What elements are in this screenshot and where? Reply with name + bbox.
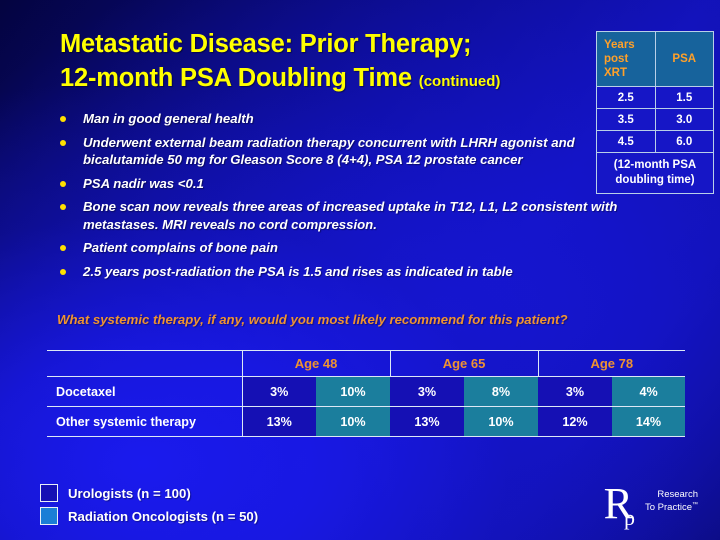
title-line-1: Metastatic Disease: Prior Therapy; bbox=[60, 28, 580, 62]
case-description-bullet-list: Man in good general health Underwent ext… bbox=[60, 110, 620, 286]
radiation-oncologists-swatch-icon bbox=[40, 507, 58, 525]
logo-wordmark: Research To Practice™ bbox=[645, 489, 698, 520]
psa-header-years-post-xrt: Years post XRT bbox=[597, 32, 656, 87]
results-cell-urologists: 13% bbox=[242, 407, 316, 437]
psa-value: 6.0 bbox=[655, 131, 714, 153]
results-cell-urologists: 13% bbox=[390, 407, 464, 437]
survey-question: What systemic therapy, if any, would you… bbox=[57, 311, 602, 328]
psa-note-line-2: doubling time) bbox=[615, 174, 694, 186]
results-header-age-48: Age 48 bbox=[242, 351, 390, 377]
results-header-blank bbox=[47, 351, 242, 377]
legend-item-radiation-oncologists: Radiation Oncologists (n = 50) bbox=[40, 507, 258, 525]
title-line-2: 12-month PSA Doubling Time (continued) bbox=[60, 62, 580, 96]
bullet-text: Underwent external beam radiation therap… bbox=[83, 134, 620, 169]
bullet-dot-icon bbox=[60, 269, 66, 275]
results-header-age-78: Age 78 bbox=[538, 351, 685, 377]
results-cell-urologists: 3% bbox=[242, 377, 316, 407]
legend-label: Urologists (n = 100) bbox=[68, 486, 191, 501]
logo-text-line-1: Research bbox=[657, 489, 698, 500]
results-row-label: Other systemic therapy bbox=[47, 407, 242, 437]
results-cell-radiation-oncologists: 10% bbox=[464, 407, 538, 437]
results-cell-radiation-oncologists: 10% bbox=[316, 377, 390, 407]
results-cell-radiation-oncologists: 8% bbox=[464, 377, 538, 407]
psa-table-row: 2.5 1.5 bbox=[597, 87, 714, 109]
bullet-text: Patient complains of bone pain bbox=[83, 239, 278, 257]
psa-note-line-1: (12-month PSA bbox=[614, 159, 696, 171]
table-row: Docetaxel 3% 10% 3% 8% 3% 4% bbox=[47, 377, 685, 407]
list-item: Underwent external beam radiation therap… bbox=[60, 134, 620, 169]
results-cell-urologists: 3% bbox=[390, 377, 464, 407]
psa-value: 3.0 bbox=[655, 109, 714, 131]
table-row: Other systemic therapy 13% 10% 13% 10% 1… bbox=[47, 407, 685, 437]
results-cell-urologists: 12% bbox=[538, 407, 612, 437]
bullet-dot-icon bbox=[60, 245, 66, 251]
legend: Urologists (n = 100) Radiation Oncologis… bbox=[40, 484, 258, 530]
results-header-age-65: Age 65 bbox=[390, 351, 538, 377]
research-to-practice-logo: Rp Research To Practice™ bbox=[604, 482, 698, 526]
results-header-row: Age 48 Age 65 Age 78 bbox=[47, 351, 685, 377]
psa-header-psa: PSA bbox=[655, 32, 714, 87]
bullet-text: PSA nadir was <0.1 bbox=[83, 175, 204, 193]
bullet-text: 2.5 years post-radiation the PSA is 1.5 … bbox=[83, 263, 513, 281]
urologists-swatch-icon bbox=[40, 484, 58, 502]
results-cell-radiation-oncologists: 10% bbox=[316, 407, 390, 437]
slide-canvas: Metastatic Disease: Prior Therapy; 12-mo… bbox=[0, 0, 720, 540]
bullet-dot-icon bbox=[60, 204, 66, 210]
psa-years-value: 2.5 bbox=[597, 87, 656, 109]
list-item: Patient complains of bone pain bbox=[60, 239, 620, 257]
list-item: PSA nadir was <0.1 bbox=[60, 175, 620, 193]
bullet-text: Bone scan now reveals three areas of inc… bbox=[83, 198, 620, 233]
results-cell-radiation-oncologists: 14% bbox=[612, 407, 685, 437]
results-cell-urologists: 3% bbox=[538, 377, 612, 407]
bullet-dot-icon bbox=[60, 116, 66, 122]
bullet-dot-icon bbox=[60, 140, 66, 146]
title-line-2-main: 12-month PSA Doubling Time bbox=[60, 64, 412, 92]
logo-monogram-icon: Rp bbox=[604, 482, 642, 526]
list-item: Man in good general health bbox=[60, 110, 620, 128]
results-cell-radiation-oncologists: 4% bbox=[612, 377, 685, 407]
survey-results-table: Age 48 Age 65 Age 78 Docetaxel 3% 10% 3%… bbox=[47, 350, 685, 437]
title-continued-note: (continued) bbox=[419, 73, 501, 90]
logo-letter-p: p bbox=[624, 505, 634, 530]
psa-table-header-row: Years post XRT PSA bbox=[597, 32, 714, 87]
legend-label: Radiation Oncologists (n = 50) bbox=[68, 509, 258, 524]
trademark-symbol: ™ bbox=[692, 502, 698, 508]
bullet-text: Man in good general health bbox=[83, 110, 254, 128]
psa-value: 1.5 bbox=[655, 87, 714, 109]
logo-text-line-2: To Practice bbox=[645, 503, 692, 514]
legend-item-urologists: Urologists (n = 100) bbox=[40, 484, 258, 502]
list-item: 2.5 years post-radiation the PSA is 1.5 … bbox=[60, 263, 620, 281]
page-title: Metastatic Disease: Prior Therapy; 12-mo… bbox=[60, 28, 580, 95]
list-item: Bone scan now reveals three areas of inc… bbox=[60, 198, 620, 233]
results-row-label: Docetaxel bbox=[47, 377, 242, 407]
bullet-dot-icon bbox=[60, 181, 66, 187]
